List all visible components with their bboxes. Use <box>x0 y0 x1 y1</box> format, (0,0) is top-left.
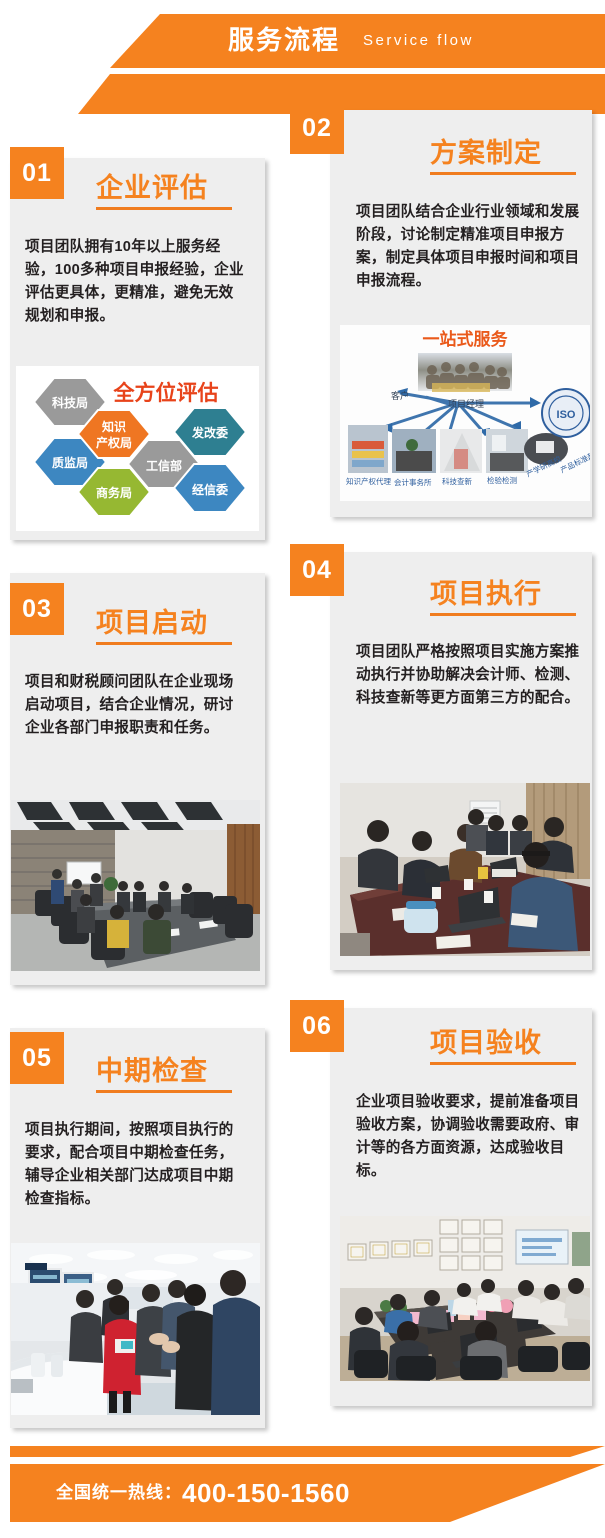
footer-accent-stripe <box>10 1446 605 1457</box>
footer-hotline-number: 400-150-1560 <box>182 1478 350 1508</box>
card-body-04: 项目团队严格按照项目实施方案推动执行并协助解决会计师、检测、科技查新等更方面第三… <box>356 641 580 710</box>
photo-site-visit-05 <box>11 1243 260 1415</box>
page-header: 服务流程 Service flow <box>0 0 605 110</box>
onestop-node-1: 会计事务所 <box>394 477 432 487</box>
card-number-badge-02: 02 <box>290 102 344 154</box>
card-body-01: 项目团队拥有10年以上服务经验，100多种项目申报经验，企业评估更具体，更精准，… <box>25 236 247 328</box>
hex-label-4: 工信部 <box>146 458 182 473</box>
card-title-underline-03 <box>96 642 232 645</box>
photo-conference-table-04 <box>340 783 590 956</box>
onestop-node-0: 知识产权代理 <box>346 476 391 486</box>
hex-label-1b: 产权局 <box>96 435 132 450</box>
card-body-02: 项目团队结合企业行业领域和发展阶段，讨论制定精准项目申报方案，制定具体项目申报时… <box>356 201 580 293</box>
hex-label-3: 质监局 <box>52 455 88 470</box>
card-body-05: 项目执行期间，按照项目执行的要求，配合项目中期检查任务，辅导企业相关部门达成项目… <box>25 1119 247 1211</box>
card-number-badge-01: 01 <box>10 147 64 199</box>
hex-label-2: 发改委 <box>191 425 229 440</box>
card-title-underline-01 <box>96 207 232 210</box>
hex-label-5: 经信委 <box>192 482 229 497</box>
card-title-underline-02 <box>430 172 576 175</box>
card-number-badge-05: 05 <box>10 1032 64 1084</box>
page-title: 服务流程 <box>228 22 340 58</box>
card-title-04: 项目执行 <box>430 572 542 611</box>
card-title-underline-05 <box>96 1090 232 1093</box>
card-number-badge-04: 04 <box>290 544 344 596</box>
card-title-06: 项目验收 <box>430 1021 542 1060</box>
hex-label-6: 商务局 <box>96 485 132 500</box>
card-title-01: 企业评估 <box>96 166 208 205</box>
page-footer: 全国统一热线：400-150-1560 <box>0 1408 605 1538</box>
card-title-03: 项目启动 <box>96 601 208 640</box>
onestop-client-label: 客户 <box>391 390 409 401</box>
onestop-title: 一站式服务 <box>423 329 509 349</box>
card-title-05: 中期检查 <box>96 1049 208 1088</box>
card-number-badge-03: 03 <box>10 583 64 635</box>
hex-diagram-01: 科技局 质监局 知识 产权局 商务局 工信部 发改委 经信委 全方位评估 <box>16 366 259 531</box>
onestop-node-3: 检验检测 <box>487 475 517 485</box>
onestop-center-label: 项目经理 <box>448 398 484 409</box>
photo-meeting-room-03 <box>11 800 260 971</box>
onestop-node-2: 科技查新 <box>442 476 472 486</box>
card-title-underline-06 <box>430 1062 576 1065</box>
card-number-badge-06: 06 <box>290 1000 344 1052</box>
onestop-diagram-02: ISO 一站式服务 客户 项目经理 知识产权代理 会计事务所 科技查新 检验检测… <box>340 325 590 501</box>
page-subtitle: Service flow <box>363 30 474 52</box>
iso-seal-text: ISO <box>557 409 576 421</box>
card-title-underline-04 <box>430 613 576 616</box>
footer-hotline-label: 全国统一热线： <box>56 1483 182 1502</box>
card-title-02: 方案制定 <box>430 131 542 170</box>
card-body-03: 项目和财税顾问团队在企业现场启动项目，结合企业情况，研讨企业各部门申报职责和任务… <box>25 671 247 740</box>
hex-label-0: 科技局 <box>52 395 88 410</box>
card-body-06: 企业项目验收要求，提前准备项目验收方案，协调验收需要政府、审计等的各方面资源，达… <box>356 1091 580 1183</box>
hex-diagram-title: 全方位评估 <box>113 381 219 405</box>
photo-acceptance-meeting-06 <box>340 1216 590 1381</box>
footer-hotline[interactable]: 全国统一热线：400-150-1560 <box>56 1476 350 1510</box>
hex-label-1a: 知识 <box>101 419 126 434</box>
